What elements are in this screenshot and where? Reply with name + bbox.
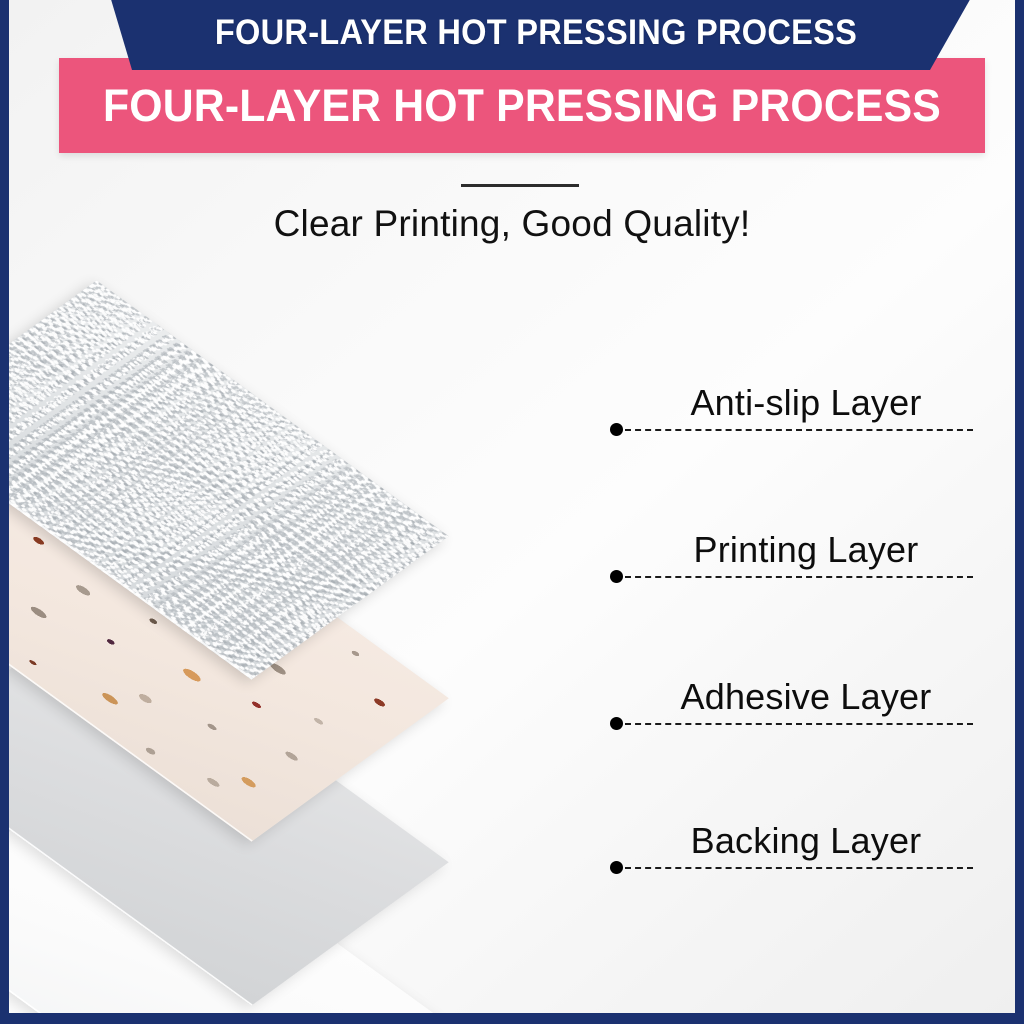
subtitle-text: Clear Printing, Good Quality!: [9, 203, 1015, 245]
callout-leader-line: [625, 867, 973, 869]
callout-leader-line: [625, 576, 973, 578]
callout-label-anti-slip: Anti-slip Layer: [625, 382, 987, 424]
callout-dot-icon: [610, 423, 623, 436]
callout-dot-icon: [610, 861, 623, 874]
infographic-canvas: FOUR-LAYER HOT PRESSING PROCESS FOUR-LAY…: [0, 0, 1024, 1024]
header-banner: FOUR-LAYER HOT PRESSING PROCESS FOUR-LAY…: [9, 0, 1015, 165]
callout-leader-line: [625, 723, 973, 725]
subtitle-divider: [461, 184, 579, 187]
callout-leader-line: [625, 429, 973, 431]
layer-stack-illustration: [0, 255, 639, 1015]
callout-label-adhesive: Adhesive Layer: [625, 676, 987, 718]
callout-dot-icon: [610, 717, 623, 730]
callout-label-printing: Printing Layer: [625, 529, 987, 571]
callout-label-backing: Backing Layer: [625, 820, 987, 862]
navy-ribbon-title: FOUR-LAYER HOT PRESSING PROCESS: [131, 0, 942, 70]
callout-dot-icon: [610, 570, 623, 583]
pink-banner-title: FOUR-LAYER HOT PRESSING PROCESS: [82, 58, 962, 153]
